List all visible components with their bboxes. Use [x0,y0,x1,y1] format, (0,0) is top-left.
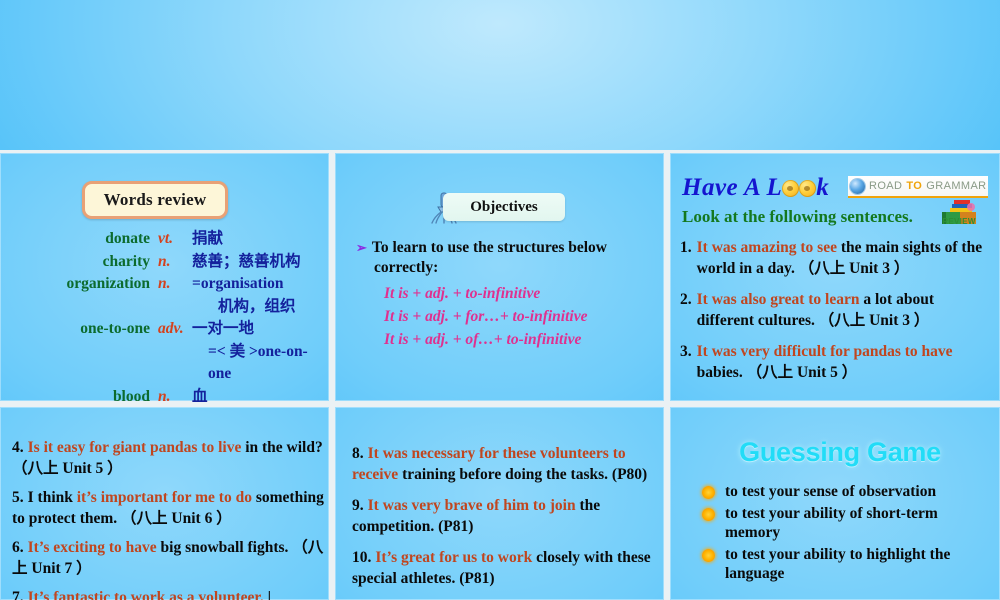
arrow-bullet-icon: ➢ [356,240,372,255]
have-a-look-title-part1: Have A L [682,174,782,201]
words-review-list: donatevt.捐献charityn.慈善；慈善机构organizationn… [8,228,324,408]
sentence-text: It was necessary for these volunteers to… [352,445,647,483]
sentence-number: 1. [680,238,697,279]
word-term: one-to-one [8,318,158,341]
word-row: =< 美 >one-on-one [8,341,324,386]
globe-icon [850,179,865,194]
review-icon-label: REVIEW [938,217,980,226]
sentence-highlight: It was very brave of him to join [368,497,576,514]
guessing-game-item-label: to test your ability of short-term memor… [725,504,992,543]
word-term: organization [8,273,158,296]
word-part-of-speech: vt. [158,228,192,251]
sentence-number: 10. [352,549,375,566]
word-definition: =organisation [192,273,284,296]
guessing-game-item: to test your ability of short-term memor… [702,504,992,543]
sentence-highlight: It was amazing to see [697,239,837,256]
guessing-game-item-label: to test your ability to highlight the la… [725,545,992,584]
sentence-item: 8.It was necessary for these volunteers … [352,444,652,485]
objectives-badge-label: Objectives [470,199,537,216]
objectives-goal-text: To learn to use the structures below cor… [372,239,607,276]
word-definition: =< 美 >one-on-one [182,341,324,386]
sentence-suffix: | [264,589,271,600]
word-row: organizationn.=organisation [8,273,324,296]
sentence-highlight: Is it easy for giant pandas to live [28,439,242,456]
sentence-prefix: I think [28,489,77,506]
sentence-number: 4. [12,439,28,456]
slide-canvas: Words review donatevt.捐献charityn.慈善；慈善机构… [0,0,1000,600]
slide-top-banner [0,0,1000,150]
sentence-item: 5.I think it’s important for me to do so… [12,488,324,529]
word-part-of-speech: adv. [158,318,192,341]
sentence-highlight: It was very difficult for pandas to have [697,343,953,360]
sentence-text: I think it’s important for me to do some… [12,489,324,527]
smiley-ball-icon-2 [799,180,816,197]
road-to-grammar-badge: ROAD TO GRAMMAR [848,176,988,198]
bottom-middle-sentence-list: 8.It was necessary for these volunteers … [352,444,652,600]
word-row: donatevt.捐献 [8,228,324,251]
have-a-look-title-part2: k [816,174,829,201]
objectives-goal: ➢To learn to use the structures below co… [356,238,656,278]
word-row: one-to-oneadv.一对一地 [8,318,324,341]
sentence-number: 6. [12,539,28,556]
sun-bullet-icon [702,486,715,499]
have-a-look-sentence-list: 1.It was amazing to see the main sights … [680,238,990,394]
word-row: bloodn.血 [8,386,324,409]
sentence-item: 4.Is it easy for giant pandas to live in… [12,438,324,479]
word-part-of-speech: n. [158,386,192,409]
sentence-item: 3.It was very difficult for pandas to ha… [680,342,990,383]
sentence-text: It was amazing to see the main sights of… [697,238,990,279]
sentence-text: It was very difficult for pandas to have… [697,342,990,383]
sentence-text: It was also great to learn a lot about d… [697,290,990,331]
sentence-number: 9. [352,497,368,514]
rtg-word-grammar: GRAMMAR [926,180,986,192]
sentence-item: 6.It’s exciting to have big snowball fig… [12,538,324,579]
sentence-number: 3. [680,342,697,383]
objectives-body: ➢To learn to use the structures below co… [356,238,656,351]
smiley-ball-icon-1 [782,180,799,197]
word-definition: 捐献 [192,228,223,251]
sentence-highlight: It’s exciting to have [28,539,157,556]
have-a-look-title: Have A Lk [682,174,829,202]
rtg-word-to: TO [906,180,922,192]
word-definition: 一对一地 [192,318,254,341]
word-definition: 血 [192,386,208,409]
sentence-item: 2.It was also great to learn a lot about… [680,290,990,331]
objectives-structure-list: It is + adj. + to-infinitiveIt is + adj.… [356,282,656,351]
objective-structure: It is + adj. + of…+ to-infinitive [384,328,656,351]
word-definition: 慈善；慈善机构 [192,251,301,274]
sentence-suffix: training before doing the tasks. (P80) [398,466,647,483]
sentence-item: 10.It’s great for us to work closely wit… [352,548,652,589]
objectives-badge: Objectives [443,193,565,221]
sentence-text: It was very brave of him to join the com… [352,497,600,535]
word-definition: 机构，组织 [192,296,296,319]
sentence-suffix: babies. （八上 Unit 5 ） [697,364,858,381]
objective-structure: It is + adj. + for…+ to-infinitive [384,305,656,328]
sentence-highlight: It’s great for us to work [375,549,532,566]
guessing-game-item: to test your ability to highlight the la… [702,545,992,584]
sentence-highlight: It was also great to learn [697,291,860,308]
word-part-of-speech: n. [158,251,192,274]
bottom-left-sentence-list: 4.Is it easy for giant pandas to live in… [12,438,324,600]
sun-bullet-icon [702,549,715,562]
words-review-badge: Words review [82,181,228,219]
sentence-item: 7.It’s fantastic to work as a volunteer.… [12,588,324,600]
sentence-number: 7. [12,589,28,600]
guessing-game-item-label: to test your sense of observation [725,482,936,502]
word-term: charity [8,251,158,274]
guessing-game-list: to test your sense of observationto test… [702,482,992,586]
have-a-look-subtitle: Look at the following sentences. [682,207,913,227]
sentence-text: It’s exciting to have big snowball fight… [12,539,323,577]
sentence-number: 5. [12,489,28,506]
word-row: 机构，组织 [8,296,324,319]
rtg-word-road: ROAD [869,180,902,192]
sentence-text: It’s great for us to work closely with t… [352,549,651,587]
sentence-text: It’s fantastic to work as a volunteer. | [28,589,271,600]
sentence-item: 9.It was very brave of him to join the c… [352,496,652,537]
sentence-text: Is it easy for giant pandas to live in t… [12,439,323,477]
word-term: donate [8,228,158,251]
objective-structure: It is + adj. + to-infinitive [384,282,656,305]
guessing-game-item: to test your sense of observation [702,482,992,502]
word-part-of-speech: n. [158,273,192,296]
sentence-item: 1.It was amazing to see the main sights … [680,238,990,279]
guessing-game-title: Guessing Game [700,437,980,468]
word-row: charityn.慈善；慈善机构 [8,251,324,274]
sentence-highlight: It’s fantastic to work as a volunteer. [28,589,264,600]
sentence-highlight: it’s important for me to do [77,489,252,506]
words-review-badge-label: Words review [104,190,207,210]
sun-bullet-icon [702,508,715,521]
word-term: blood [8,386,158,409]
sentence-number: 8. [352,445,368,462]
sentence-number: 2. [680,290,697,331]
